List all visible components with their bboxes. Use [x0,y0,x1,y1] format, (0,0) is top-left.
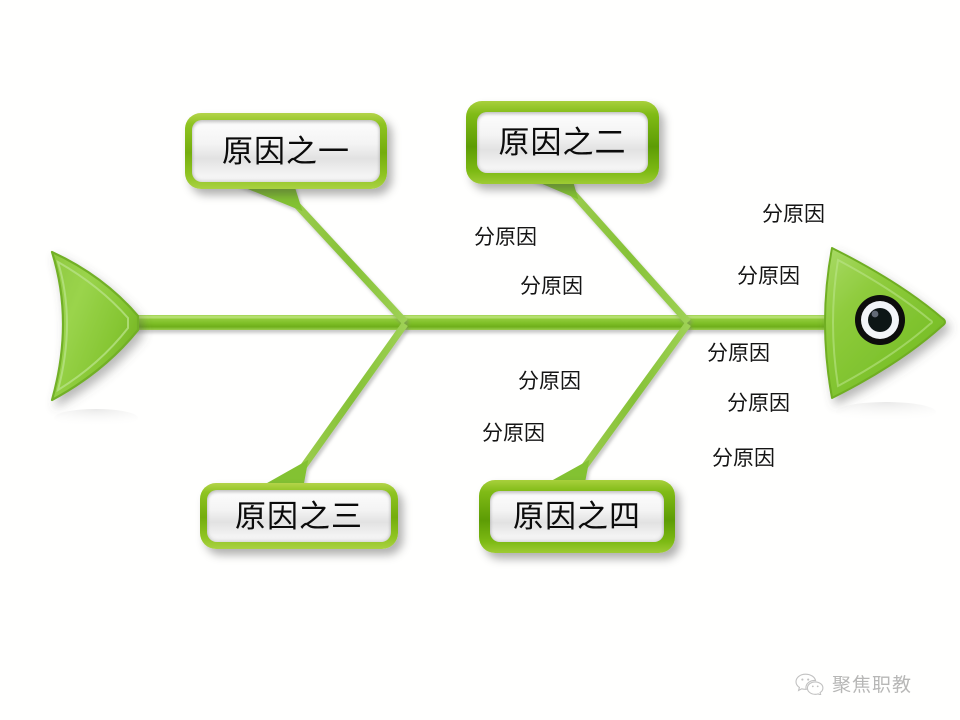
fish-head [825,248,945,398]
cause-box-1-inner: 原因之一 [192,120,380,182]
head-reflection [836,402,936,422]
cause-box-2-inner: 原因之二 [477,112,648,173]
sub-label-top-left-1: 分原因 [474,227,537,248]
rib-to-cause-4 [582,324,688,470]
sub-label-bottom-right-2: 分原因 [727,393,790,414]
cause-box-3-label: 原因之三 [235,501,363,532]
fishbone-diagram-canvas: 原因之一 原因之二 原因之三 原因之四 分原因 分原因 分原因 分原因 分原因 … [0,0,960,720]
cause-box-2-label: 原因之二 [499,127,627,158]
watermark: 聚焦职教 [795,670,912,697]
tail-reflection [54,409,138,427]
wechat-bubble-icon [795,673,825,695]
rib-to-cause-1 [294,202,405,322]
cause-box-4-label: 原因之四 [513,501,641,532]
cause-box-1-label: 原因之一 [222,136,350,167]
rib-to-cause-3 [301,324,405,470]
watermark-text: 聚焦职教 [832,670,912,697]
sub-label-top-left-2: 分原因 [520,276,583,297]
cause-box-1[interactable]: 原因之一 [185,113,387,189]
sub-label-bottom-left-1: 分原因 [518,371,581,392]
cause-box-4-inner: 原因之四 [490,491,664,542]
cause-box-3[interactable]: 原因之三 [200,483,398,549]
sub-label-bottom-right-3: 分原因 [712,448,775,469]
sub-label-top-right-2: 分原因 [737,266,800,287]
fish-tail [52,252,138,400]
sub-label-top-right-1: 分原因 [762,204,825,225]
cause-box-2[interactable]: 原因之二 [466,101,659,184]
fish-eye [855,295,905,345]
rib-to-cause-2 [570,190,688,322]
cause-box-4[interactable]: 原因之四 [479,480,675,553]
sub-label-bottom-left-2: 分原因 [482,423,545,444]
sub-cause-lines [333,237,790,440]
sub-label-bottom-right-1: 分原因 [707,343,770,364]
cause-box-3-inner: 原因之三 [207,490,391,542]
fish-spine [122,315,828,330]
